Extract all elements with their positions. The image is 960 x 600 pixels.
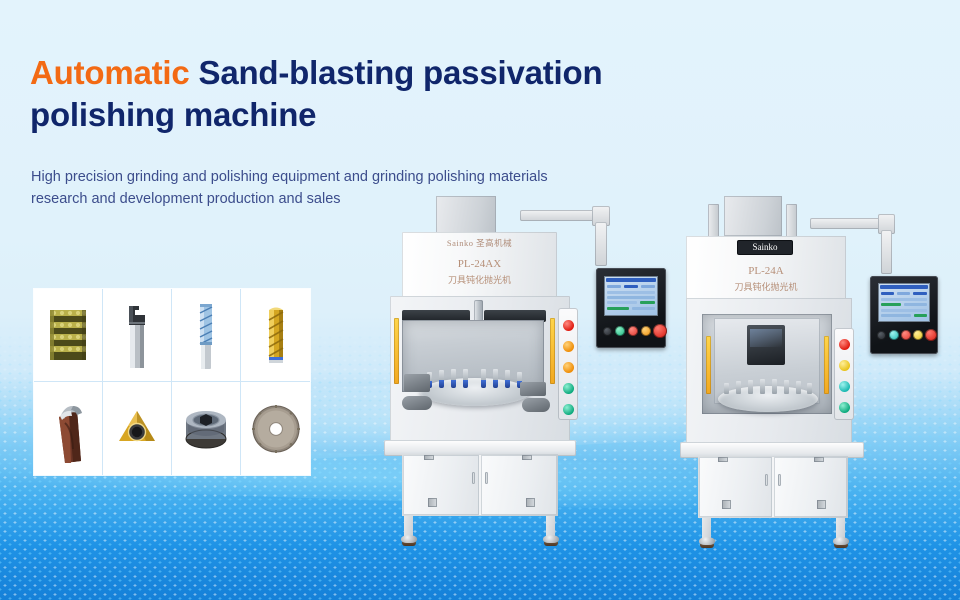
right-tool-holder-row [722,378,814,398]
hmi-screen-row [607,296,655,299]
left-tool-holder-row [425,368,525,390]
tool-holder-tip [463,380,468,388]
right-hmi-button-row [877,328,933,343]
start-button[interactable] [615,326,625,336]
stack-lamp-green [563,383,574,394]
reset-button[interactable] [913,330,923,340]
right-hmi-pendant-box[interactable] [870,276,938,354]
right-hmi-screen[interactable] [878,283,930,322]
stop-button[interactable] [628,326,638,336]
left-machine-foot-left [401,535,417,543]
right-cabinet-hinge-tl [718,457,728,462]
left-cabinet-door-right[interactable] [481,455,557,515]
left-machine-brand: Sainko 圣高机械 [402,237,557,249]
hmi-screen-row [607,291,655,294]
stack-lamp-red [839,339,850,350]
right-light-curtain-right [824,336,829,394]
headline-accent-word: Automatic [30,54,190,91]
emergency-stop-button[interactable] [925,329,937,341]
right-chamber-window-glare [750,329,782,347]
tin-coated-roughing-end-mill-icon [261,300,291,370]
left-side-module-c [520,382,546,396]
page-title: Automatic Sand-blasting passivation poli… [30,52,690,136]
gear-hob-cutter-icon [40,304,96,366]
tool-holder [748,380,753,394]
stack-lamp-green-2 [563,404,574,415]
left-hmi-pendant-box[interactable] [596,268,666,348]
right-cabinet-hinge-mr [817,500,826,509]
hmi-screen-row [607,301,637,304]
right-cabinet-door-right[interactable] [774,457,847,517]
left-side-module-d [522,398,550,412]
hmi-screen-row [624,285,638,288]
hmi-screen-row [880,285,928,289]
left-machine-cabinet [402,454,558,516]
right-machine-post-right [786,204,797,238]
hmi-screen-row [881,292,894,295]
stack-lamp-amber-2 [563,362,574,373]
left-hmi-screen[interactable] [604,276,658,316]
circular-saw-blade-icon [250,403,302,455]
tool-holder-tip [505,380,510,388]
left-hmi-button-row [603,324,661,340]
tool-holder-tip [493,380,498,388]
indexable-turning-tool-icon [120,300,154,370]
machine-left: Sainko 圣高机械 PL-24AX 刀具钝化抛光机 [380,196,605,561]
start-button[interactable] [889,330,899,340]
right-pendant-arm-vertical [881,230,892,274]
right-light-curtain-left [706,336,711,394]
hmi-screen-row [607,285,621,288]
left-machine-model-cn: 刀具钝化抛光机 [402,273,557,286]
left-light-curtain-right [550,318,555,384]
right-machine-model-cn: 刀具钝化抛光机 [686,280,846,293]
tool-holder [807,383,812,394]
tool-holder-tip [481,380,486,388]
hmi-screen-row [632,307,655,310]
right-cabinet-handle-right[interactable] [778,474,781,486]
stack-lamp-yellow [839,360,850,371]
left-cabinet-hinge-ml [428,498,437,507]
tool-holder [784,380,789,394]
tool-holder-tip [451,380,456,388]
left-stack-light [558,308,578,420]
hmi-screen-row [881,303,901,306]
tool-cell-circular-saw-blade [241,382,310,475]
left-machine-hopper [436,196,496,234]
tool-cell-milling-cutter-head [172,382,241,475]
tool-cell-blue-coated-end-mill [172,289,241,382]
blue-coated-end-mill-icon [193,299,219,371]
right-cabinet-door-left[interactable] [699,457,772,517]
milling-cutter-head-icon [180,406,232,452]
hmi-screen-row [607,307,629,310]
hmi-screen-row [897,292,910,295]
left-cabinet-hinge-mr [526,498,535,507]
tool-cell-gear-hob-cutter [34,289,103,382]
tool-holder [772,379,777,394]
hmi-screen-row [881,314,911,317]
left-light-curtain-left [394,318,399,384]
stack-lamp-amber [563,341,574,352]
right-machine-foot-right [833,537,849,545]
stop-button[interactable] [901,330,911,340]
right-machine-hopper [724,196,782,236]
tool-holder [760,379,765,394]
stack-lamp-cyan [839,381,850,392]
left-cabinet-handle-right[interactable] [485,472,488,484]
right-cabinet-handle-left[interactable] [765,474,768,486]
left-cabinet-door-left[interactable] [403,455,479,515]
promo-banner: Automatic Sand-blasting passivation poli… [0,0,960,600]
tool-holder [724,383,729,394]
hmi-screen-row [881,298,927,301]
left-machine-model: PL-24AX [402,258,557,270]
left-cabinet-hinge-tr [522,455,532,460]
tool-gallery-grid [34,289,310,475]
left-side-module-a [404,374,430,392]
selector-switch[interactable] [603,327,612,336]
reset-button[interactable] [641,326,651,336]
hmi-screen-row [913,292,927,295]
left-cabinet-hinge-tl [424,455,434,460]
hmi-screen-row [904,303,927,306]
left-cabinet-handle-left[interactable] [472,472,475,484]
stack-lamp-red [563,320,574,331]
tool-cell-indexable-turning-tool [103,289,172,382]
hmi-screen-row [606,278,656,282]
right-machine-brand: Sainko [737,240,793,255]
tool-holder [796,381,801,394]
left-machine-foot-right [543,535,559,543]
tool-cell-tin-coated-roughing-end-mill [241,289,310,382]
selector-switch[interactable] [877,331,886,340]
twist-drill-bit-icon [47,393,89,465]
left-side-module-b [402,396,432,410]
threading-insert-icon [115,407,159,451]
right-cabinet-hinge-tr [814,457,824,462]
hmi-screen-row [914,314,927,317]
right-machine-cabinet [698,456,848,518]
right-stack-light [834,328,854,420]
hmi-screen-row [640,301,655,304]
right-machine-post-left [708,204,719,238]
emergency-stop-button[interactable] [653,324,667,338]
hmi-screen-row [881,309,927,312]
right-cabinet-hinge-ml [722,500,731,509]
hmi-screen-row [641,285,655,288]
right-machine-foot-left [699,537,715,545]
left-pendant-arm-vertical [595,222,607,266]
stack-lamp-green [839,402,850,413]
right-machine-model: PL-24A [686,265,846,277]
tool-holder-tip [439,380,444,388]
machine-right: Sainko PL-24A 刀具钝化抛光机 [680,196,900,561]
tool-cell-twist-drill-bit [34,382,103,475]
tool-holder [736,381,741,394]
tool-cell-threading-insert [103,382,172,475]
